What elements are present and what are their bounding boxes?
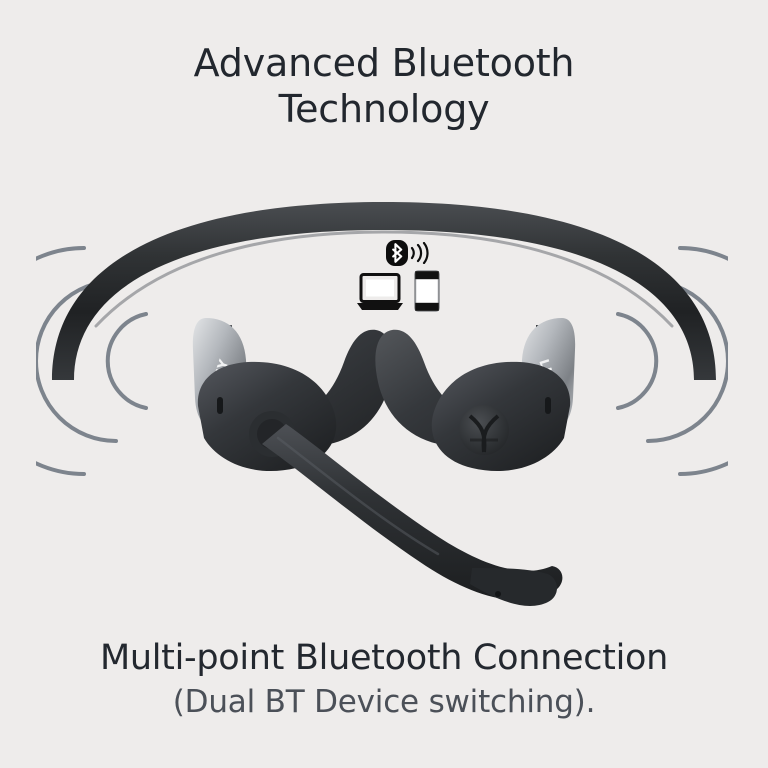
bt-arc-1	[412, 248, 414, 258]
bt-arc-3	[424, 243, 428, 263]
product-feature-graphic: Advanced Bluetooth Technology	[0, 0, 768, 768]
headset-product-image: LIVEY LIVEY	[0, 150, 768, 620]
caption-subtitle: (Dual BT Device switching).	[0, 682, 768, 722]
right-port-slot	[545, 397, 551, 414]
caption-title: Multi-point Bluetooth Connection	[0, 636, 768, 680]
bt-arc-2	[418, 245, 421, 261]
left-port-slot	[217, 397, 223, 414]
right-ear-assembly: LIVEY	[375, 318, 575, 471]
bluetooth-signal-arcs	[409, 242, 431, 264]
laptop-icon	[357, 273, 403, 311]
bluetooth-icon	[386, 240, 408, 266]
mic-hole	[495, 591, 501, 597]
phone-icon	[414, 270, 440, 312]
boom-tip	[470, 568, 557, 606]
connected-devices-cluster	[352, 240, 456, 316]
page-title: Advanced Bluetooth Technology	[0, 40, 768, 132]
